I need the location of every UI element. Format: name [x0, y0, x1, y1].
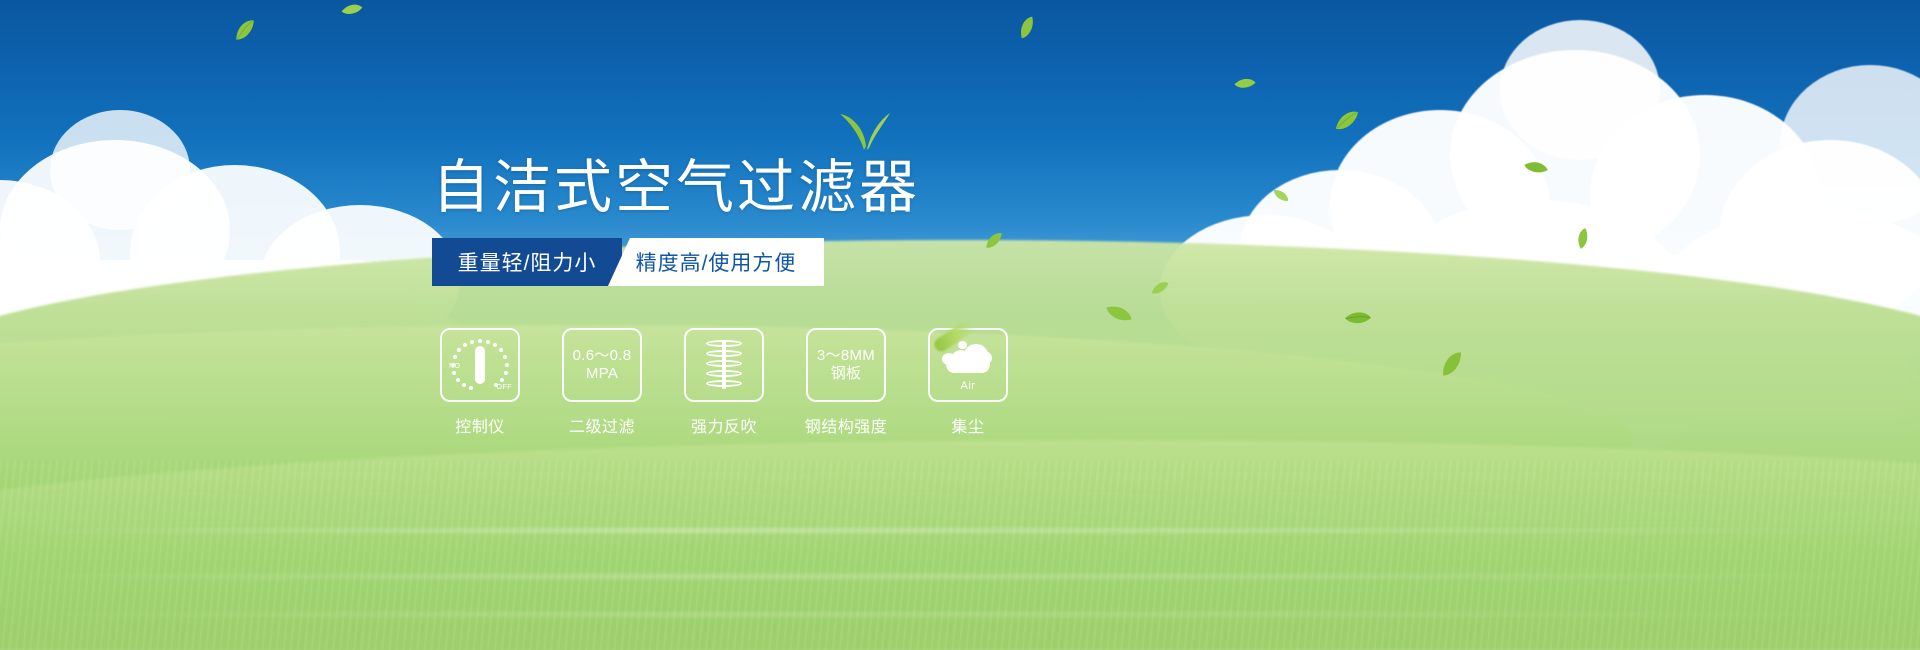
feature-icon-row: NO OFF 控制仪 0.6～0.8 MPA 二级过滤 — [440, 328, 1008, 437]
tab-lightweight-lowresistance[interactable]: 重量轻/阻力小 — [432, 238, 622, 286]
feature-icon-box: 3～8MM 钢板 — [806, 328, 886, 402]
page-title: 自洁式空气过滤器 — [432, 140, 920, 224]
steel-value-line1: 3～8MM — [817, 347, 875, 365]
dial-label-no: NO — [449, 363, 461, 370]
feature-item-dust-collection[interactable]: Air 集尘 — [928, 328, 1008, 437]
feature-caption: 控制仪 — [455, 413, 505, 437]
feature-icon-box: Air — [928, 328, 1008, 402]
feature-icon-box — [684, 328, 764, 402]
feature-tabs: 重量轻/阻力小 精度高/使用方便 — [432, 238, 824, 286]
feature-item-steel-strength[interactable]: 3～8MM 钢板 钢结构强度 — [806, 328, 886, 437]
air-cloud-icon — [940, 339, 996, 379]
tab-highprecision-easyuse[interactable]: 精度高/使用方便 — [608, 238, 824, 286]
feature-item-secondary-filtration[interactable]: 0.6～0.8 MPA 二级过滤 — [562, 328, 642, 437]
dial-label-off: OFF — [497, 384, 513, 391]
pressure-value-line2: MPA — [586, 365, 618, 383]
feature-caption: 二级过滤 — [569, 413, 635, 437]
pressure-value-line1: 0.6～0.8 — [573, 347, 632, 365]
feature-item-strong-backblow[interactable]: 强力反吹 — [684, 328, 764, 437]
feature-caption: 钢结构强度 — [805, 413, 888, 437]
feature-icon-box: 0.6～0.8 MPA — [562, 328, 642, 402]
steel-value-line2: 钢板 — [831, 365, 862, 383]
product-banner: 自洁式空气过滤器 重量轻/阻力小 精度高/使用方便 — [0, 0, 1920, 650]
feature-caption: 强力反吹 — [691, 413, 757, 437]
spring-coil-icon — [701, 339, 747, 391]
feature-item-controller[interactable]: NO OFF 控制仪 — [440, 328, 520, 437]
banner-content: 自洁式空气过滤器 重量轻/阻力小 精度高/使用方便 — [0, 0, 1920, 650]
feature-icon-box: NO OFF — [440, 328, 520, 402]
air-label: Air — [961, 380, 976, 392]
dial-gauge-icon: NO OFF — [450, 337, 510, 393]
feature-caption: 集尘 — [951, 413, 984, 437]
